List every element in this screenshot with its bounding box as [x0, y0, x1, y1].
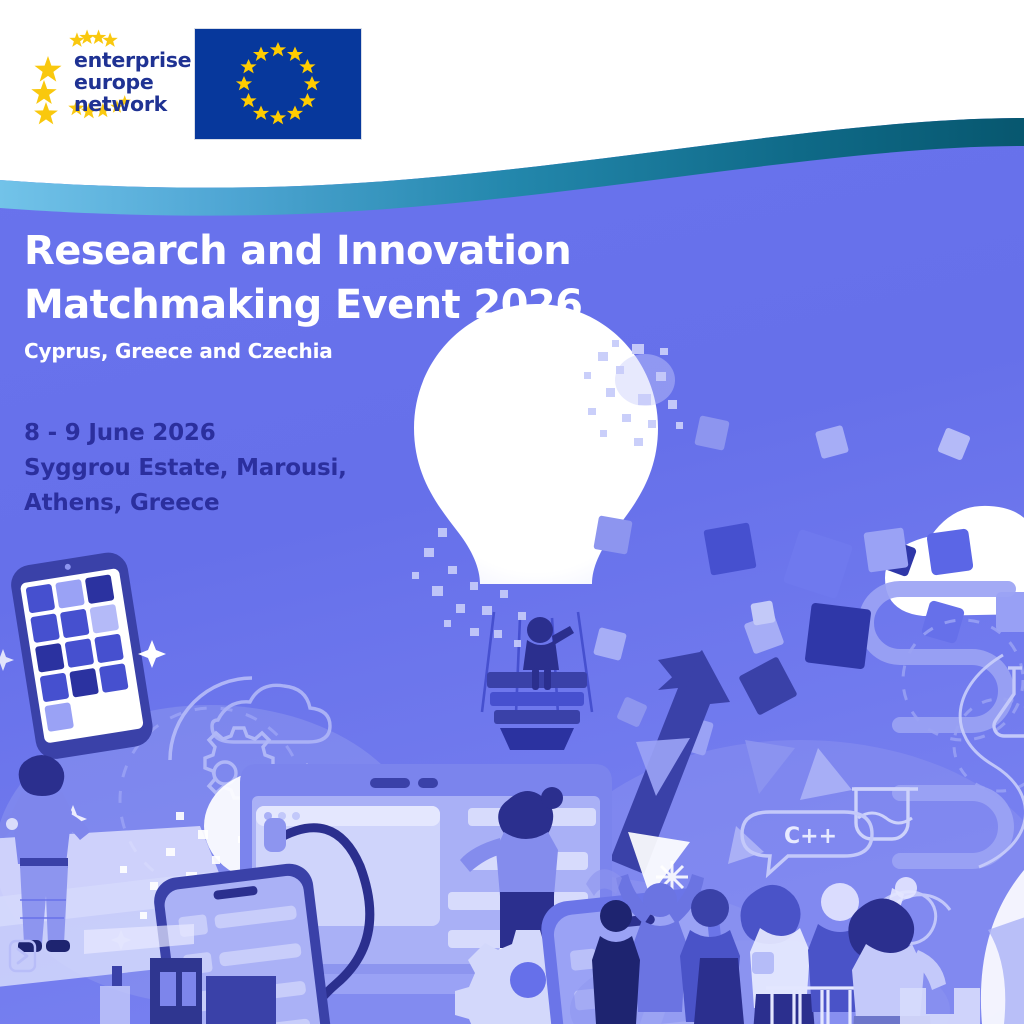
- enterprise-europe-network-logo: enterprise europe network: [28, 28, 168, 138]
- een-line-3: network: [74, 93, 191, 115]
- event-city: Athens, Greece: [24, 486, 584, 521]
- logo-row: enterprise europe network: [0, 0, 1024, 180]
- eu-star-circle: [195, 29, 361, 139]
- event-venue: Syggrou Estate, Marousi,: [24, 451, 584, 486]
- title-line-2: Matchmaking Event 2026: [24, 282, 582, 328]
- svg-text:C++: C++: [784, 824, 837, 849]
- page-title: Research and Innovation Matchmaking Even…: [24, 224, 584, 332]
- event-dates: 8 - 9 June 2026: [24, 416, 584, 451]
- title-line-1: Research and Innovation: [24, 228, 571, 274]
- event-poster: 7: [0, 0, 1024, 1024]
- event-details: 8 - 9 June 2026 Syggrou Estate, Marousi,…: [24, 416, 584, 521]
- cable-plug: [264, 818, 286, 852]
- event-subtitle: Cyprus, Greece and Czechia: [24, 338, 584, 364]
- een-wordmark: enterprise europe network: [74, 49, 191, 115]
- european-union-flag: [194, 28, 362, 140]
- event-text-block: Research and Innovation Matchmaking Even…: [24, 224, 584, 521]
- een-line-2: europe: [74, 71, 191, 93]
- een-line-1: enterprise: [74, 49, 191, 71]
